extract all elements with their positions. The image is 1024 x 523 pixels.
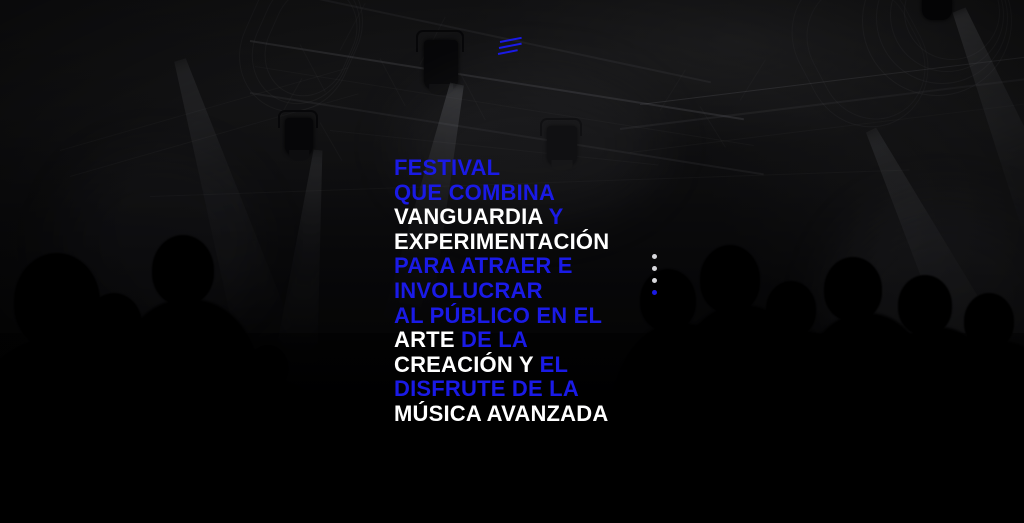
logo-bar-bottom	[498, 49, 518, 55]
slide-pagination[interactable]	[652, 254, 657, 295]
headline-segment: VANGUARDIA	[394, 204, 549, 229]
headline-segment: AL PÚBLICO EN EL	[394, 303, 602, 328]
headline-line: INVOLUCRAR	[394, 279, 724, 304]
pagination-dot-4[interactable]	[652, 290, 657, 295]
headline-segment: DE LA	[461, 327, 528, 352]
hero-headline: FESTIVALQUE COMBINAVANGUARDIA YEXPERIMEN…	[394, 156, 724, 427]
pagination-dot-1[interactable]	[652, 254, 657, 259]
logo-bar-middle	[499, 43, 522, 49]
headline-segment: Y	[549, 204, 564, 229]
headline-segment: MÚSICA AVANZADA	[394, 401, 608, 426]
headline-line: ARTE DE LA	[394, 328, 724, 353]
headline-line: DISFRUTE DE LA	[394, 377, 724, 402]
headline-segment: EXPERIMENTACIÓN	[394, 229, 609, 254]
headline-line: PARA ATRAER E	[394, 254, 724, 279]
headline-line: CREACIÓN Y EL	[394, 353, 724, 378]
headline-segment: CREACIÓN Y	[394, 352, 540, 377]
hero-section: FESTIVALQUE COMBINAVANGUARDIA YEXPERIMEN…	[0, 0, 1024, 523]
headline-segment: FESTIVAL	[394, 155, 500, 180]
headline-segment: INVOLUCRAR	[394, 278, 543, 303]
headline-segment: ARTE	[394, 327, 461, 352]
headline-line: AL PÚBLICO EN EL	[394, 304, 724, 329]
headline-line: MÚSICA AVANZADA	[394, 402, 724, 427]
three-slanted-bars-logo-icon[interactable]	[498, 37, 524, 57]
headline-segment: EL	[540, 352, 569, 377]
headline-segment: QUE COMBINA	[394, 180, 555, 205]
headline-line: EXPERIMENTACIÓN	[394, 230, 724, 255]
headline-segment: PARA ATRAER E	[394, 253, 573, 278]
pagination-dot-2[interactable]	[652, 266, 657, 271]
pagination-dot-3[interactable]	[652, 278, 657, 283]
headline-line: QUE COMBINA	[394, 181, 724, 206]
headline-line: VANGUARDIA Y	[394, 205, 724, 230]
headline-line: FESTIVAL	[394, 156, 724, 181]
headline-segment: DISFRUTE DE LA	[394, 376, 579, 401]
